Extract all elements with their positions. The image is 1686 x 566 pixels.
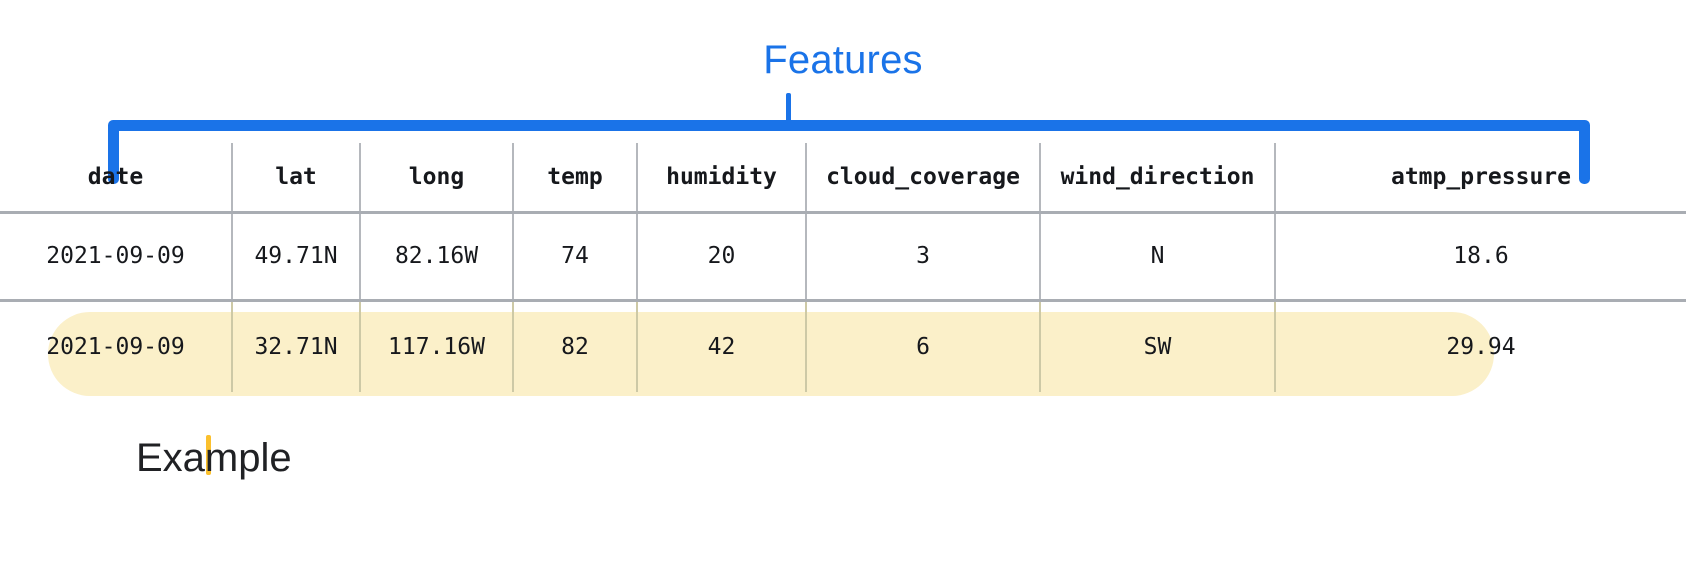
cell-lat: 49.71N [232, 212, 360, 300]
cell-long: 82.16W [360, 212, 513, 300]
cell-date: 2021-09-09 [0, 212, 232, 300]
cell-cloud-coverage: 3 [806, 212, 1040, 300]
cell-wind-direction: SW [1040, 300, 1275, 392]
cell-humidity: 42 [637, 300, 806, 392]
column-header-date: date [0, 143, 232, 212]
table-header: date lat long temp humidity cloud_covera… [0, 143, 1686, 212]
column-header-humidity: humidity [637, 143, 806, 212]
features-bracket-bar [108, 120, 1590, 131]
cell-temp: 82 [513, 300, 637, 392]
column-header-lat: lat [232, 143, 360, 212]
cell-wind-direction: N [1040, 212, 1275, 300]
cell-long: 117.16W [360, 300, 513, 392]
cell-atmp-pressure: 29.94 [1275, 300, 1686, 392]
table-row-highlighted: 2021-09-09 32.71N 117.16W 82 42 6 SW 29.… [0, 300, 1686, 392]
cell-cloud-coverage: 6 [806, 300, 1040, 392]
table-body: 2021-09-09 49.71N 82.16W 74 20 3 N 18.6 … [0, 212, 1686, 392]
data-table-wrapper: date lat long temp humidity cloud_covera… [0, 143, 1686, 392]
cell-date: 2021-09-09 [0, 300, 232, 392]
cell-temp: 74 [513, 212, 637, 300]
column-header-temp: temp [513, 143, 637, 212]
column-header-atmp-pressure: atmp_pressure [1275, 143, 1686, 212]
column-header-long: long [360, 143, 513, 212]
table-header-row: date lat long temp humidity cloud_covera… [0, 143, 1686, 212]
cell-atmp-pressure: 18.6 [1275, 212, 1686, 300]
features-annotation-label: Features [0, 38, 1686, 83]
column-header-wind-direction: wind_direction [1040, 143, 1275, 212]
weather-data-table: date lat long temp humidity cloud_covera… [0, 143, 1686, 392]
diagram-canvas: Features date lat long temp humidity clo… [0, 0, 1686, 566]
example-annotation-label: Example [136, 436, 292, 481]
cell-lat: 32.71N [232, 300, 360, 392]
column-header-cloud-coverage: cloud_coverage [806, 143, 1040, 212]
cell-humidity: 20 [637, 212, 806, 300]
table-row: 2021-09-09 49.71N 82.16W 74 20 3 N 18.6 [0, 212, 1686, 300]
